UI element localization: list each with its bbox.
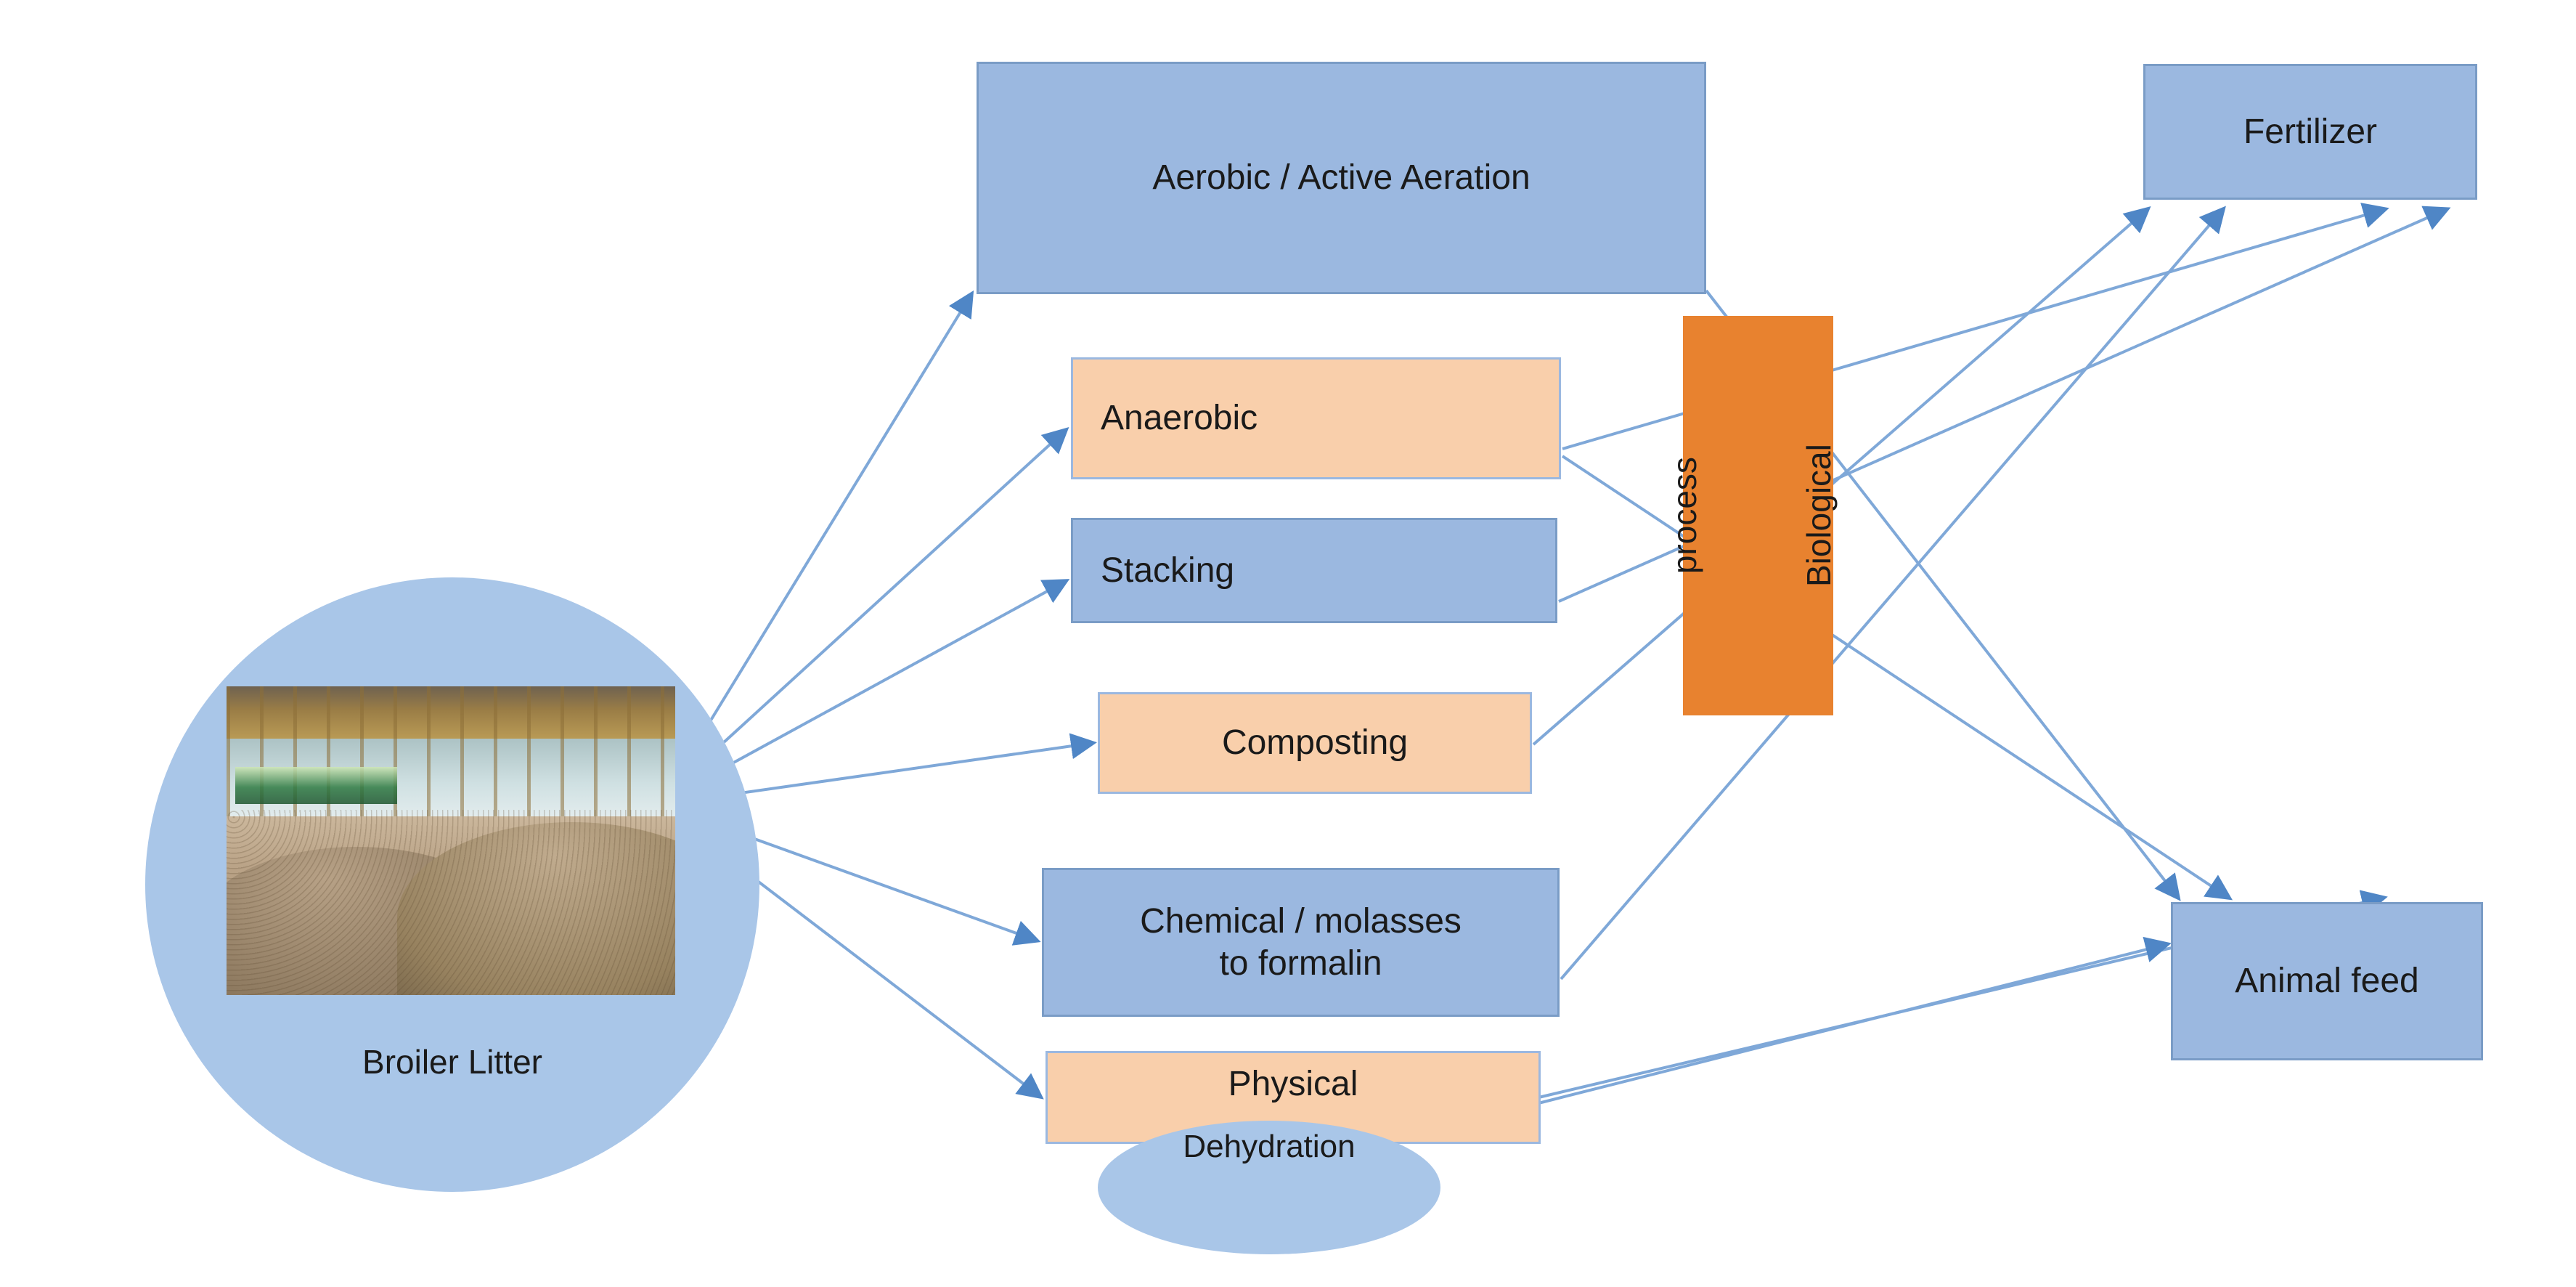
- process-box-chemical[interactable]: Chemical / molasses to formalin: [1042, 868, 1560, 1017]
- biological-process-line2: process: [1664, 457, 1704, 574]
- edge-physical-animal-feed: [1536, 944, 2167, 1104]
- process-box-anaerobic[interactable]: Anaerobic: [1071, 357, 1561, 479]
- broiler-litter-photo: [227, 686, 675, 995]
- process-box-aerobic[interactable]: Aerobic / Active Aeration: [977, 62, 1706, 294]
- process-label-chemical-line1: Chemical / molasses: [1140, 901, 1462, 943]
- process-label-composting: Composting: [1222, 722, 1408, 764]
- process-label-anaerobic: Anaerobic: [1101, 397, 1258, 439]
- edge-source-anaerobic: [674, 430, 1066, 788]
- output-label-fertilizer: Fertilizer: [2243, 111, 2377, 153]
- edge-anaerobic-animal-feed: [1562, 456, 2229, 898]
- process-label-chemical-line2: to formalin: [1219, 943, 1382, 985]
- process-label-stacking: Stacking: [1101, 550, 1234, 592]
- source-label: Broiler Litter: [145, 1042, 759, 1081]
- overlay-biological-process[interactable]: Biological process: [1683, 316, 1833, 715]
- edge-chemical-fertilizer: [1561, 209, 2223, 979]
- process-label-aerobic: Aerobic / Active Aeration: [1152, 157, 1530, 199]
- process-box-stacking[interactable]: Stacking: [1071, 518, 1557, 623]
- process-box-composting[interactable]: Composting: [1098, 692, 1532, 794]
- process-label-physical: Physical: [1228, 1063, 1358, 1105]
- dehydration-label: Dehydration: [1183, 1128, 1355, 1166]
- output-box-fertilizer[interactable]: Fertilizer: [2143, 64, 2477, 200]
- biological-process-line1: Biological: [1798, 444, 1838, 588]
- overlay-dehydration[interactable]: Dehydration: [1098, 1121, 1440, 1254]
- output-label-animal-feed: Animal feed: [2235, 960, 2418, 1002]
- diagram-canvas: Broiler Litter Aerobic / Active Aeration…: [0, 0, 2576, 1287]
- output-box-animal-feed[interactable]: Animal feed: [2171, 902, 2483, 1060]
- edge-source-aerobic: [674, 294, 971, 781]
